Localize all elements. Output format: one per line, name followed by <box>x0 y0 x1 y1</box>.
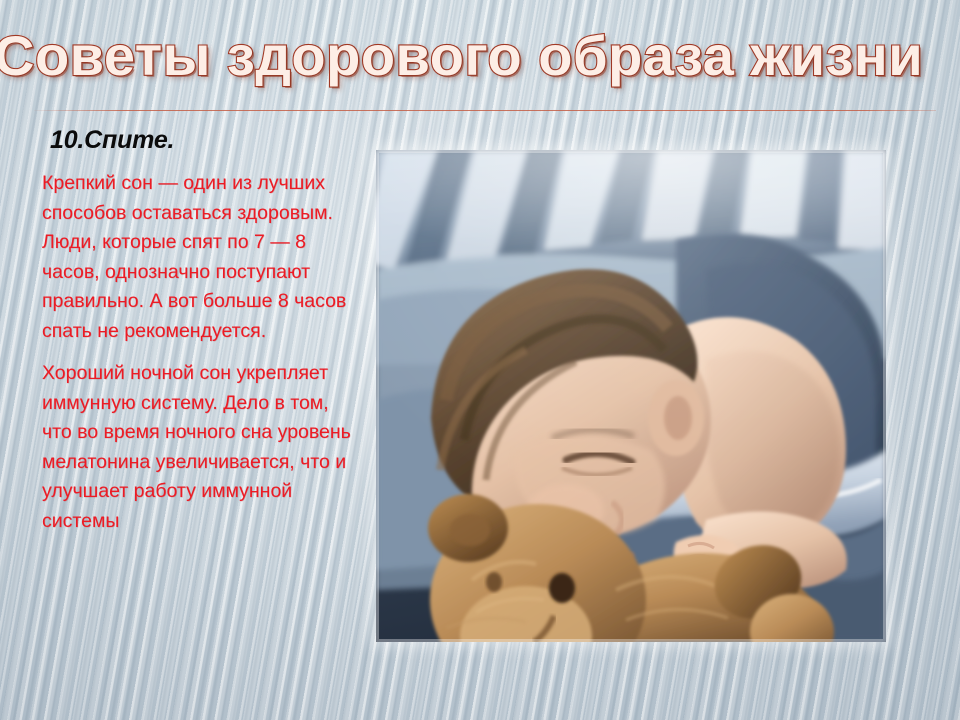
slide-title: Советы здорового образа жизни <box>0 18 954 94</box>
slide-canvas: Советы здорового образа жизни 10.Спите. … <box>0 0 960 720</box>
body-paragraph-2: Хороший ночной сон укрепляет иммунную си… <box>42 359 352 536</box>
text-column: 10.Спите. Крепкий сон — один из лучших с… <box>42 126 352 549</box>
sleeping-child-photo <box>376 150 886 642</box>
photo-illustration <box>376 150 886 642</box>
section-heading: 10.Спите. <box>50 126 352 155</box>
body-paragraph-1: Крепкий сон — один из лучших способов ос… <box>42 169 352 346</box>
title-divider-rule <box>34 110 936 111</box>
